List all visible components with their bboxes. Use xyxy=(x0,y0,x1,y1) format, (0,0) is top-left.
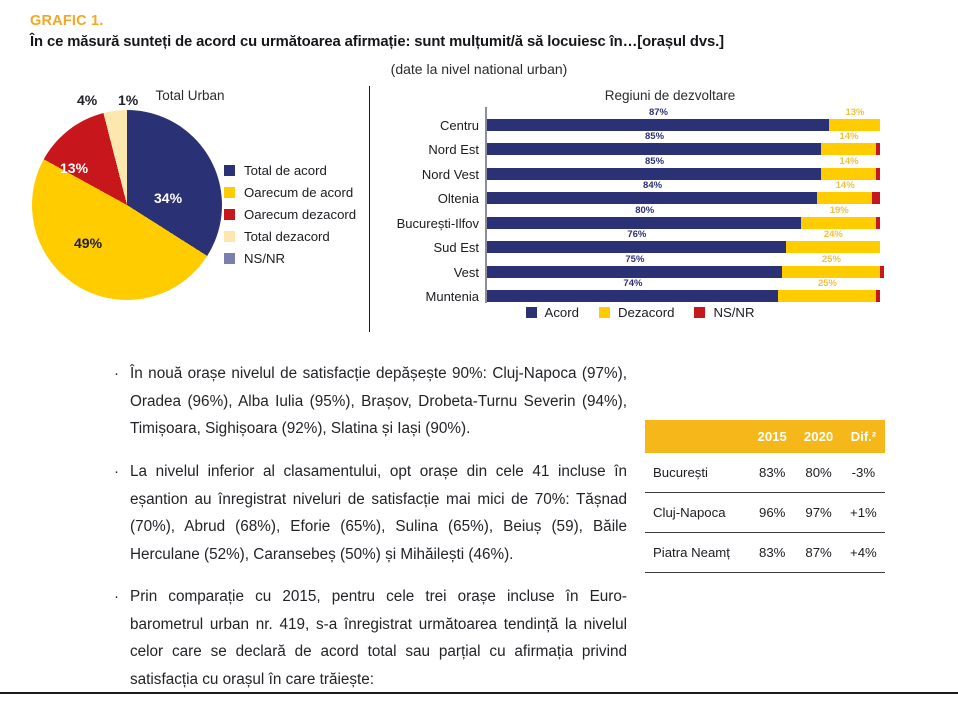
bar-legend-label: NS/NR xyxy=(713,305,754,320)
bar-legend-item: Acord xyxy=(526,305,579,320)
table-header-row: 2015 2020 Dif.² xyxy=(645,420,885,453)
bullet-text: La nivelul inferior al clasamentului, op… xyxy=(130,463,627,563)
bar-segment-dezacord xyxy=(786,241,880,253)
bar-track: 87%13% xyxy=(487,119,880,131)
pie-label-total-dezacord: 4% xyxy=(77,92,97,108)
bar-segment-nsnr xyxy=(876,217,880,229)
page-title: În ce măsură sunteți de acord cu următoa… xyxy=(30,34,724,50)
bar-track: 85%14% xyxy=(487,143,880,155)
bar-segment-dezacord xyxy=(782,266,880,278)
bullet-marker-icon: · xyxy=(114,583,119,611)
bar-chart: Centru87%13%Nord Est85%14%Nord Vest85%14… xyxy=(390,107,890,303)
bar-segment-nsnr xyxy=(872,192,880,204)
table-cell-2020: 80% xyxy=(795,453,841,493)
bar-row: Muntenia74%25% xyxy=(390,279,890,304)
bar-track: 85%14% xyxy=(487,168,880,180)
table-cell-2015: 83% xyxy=(749,453,795,493)
table-cell-2015: 83% xyxy=(749,533,795,573)
pie-legend-item: Total dezacord xyxy=(224,225,364,247)
bar-value-label-dezacord: 13% xyxy=(845,107,864,118)
bar-segment-acord xyxy=(487,217,801,229)
bar-category-label: Vest xyxy=(454,266,479,279)
bar-category-label: Muntenia xyxy=(426,290,479,303)
pie-legend-label: Total dezacord xyxy=(244,229,330,244)
bar-value-label-dezacord: 14% xyxy=(840,156,859,167)
table-cell-dif: +4% xyxy=(842,533,885,573)
pie-legend-label: Oarecum dezacord xyxy=(244,207,356,222)
bar-row: Nord Est85%14% xyxy=(390,132,890,157)
pie-legend-item: NS/NR xyxy=(224,247,364,269)
bar-category-label: Sud Est xyxy=(433,241,479,254)
table-header-city xyxy=(645,420,749,453)
bar-segment-nsnr xyxy=(880,266,884,278)
bar-value-label-dezacord: 14% xyxy=(836,180,855,191)
bar-row: Centru87%13% xyxy=(390,107,890,132)
pie-legend-item: Oarecum de acord xyxy=(224,181,364,203)
bar-row: Vest75%25% xyxy=(390,254,890,279)
bar-legend-item: NS/NR xyxy=(694,305,754,320)
pie-legend-label: Oarecum de acord xyxy=(244,185,353,200)
bar-segment-acord xyxy=(487,192,817,204)
bar-legend-swatch-icon xyxy=(526,307,537,318)
table-cell-dif: +1% xyxy=(842,493,885,533)
bar-segment-nsnr xyxy=(876,168,880,180)
bar-legend-label: Dezacord xyxy=(618,305,674,320)
bar-value-label-acord: 75% xyxy=(625,254,644,265)
bar-legend-item: Dezacord xyxy=(599,305,674,320)
pie-chart: 34% 49% 13% 4% 1% xyxy=(32,110,222,300)
bar-value-label-dezacord: 14% xyxy=(840,131,859,142)
pie-legend-swatch-icon xyxy=(224,209,235,220)
table-cell-dif: -3% xyxy=(842,453,885,493)
bar-segment-acord xyxy=(487,290,778,302)
bar-segment-nsnr xyxy=(876,290,880,302)
table-cell-2020: 97% xyxy=(795,493,841,533)
bar-legend-swatch-icon xyxy=(599,307,610,318)
bar-category-label: Nord Est xyxy=(428,143,479,156)
bar-category-label: Nord Vest xyxy=(422,168,479,181)
pie-legend-swatch-icon xyxy=(224,187,235,198)
pie-legend-label: NS/NR xyxy=(244,251,285,266)
bar-track: 84%14% xyxy=(487,192,880,204)
bar-segment-dezacord xyxy=(821,168,876,180)
bullet-item: ·La nivelul inferior al clasamentului, o… xyxy=(112,458,627,568)
bar-track: 76%24% xyxy=(487,241,880,253)
bar-chart-title: Regiuni de dezvoltare xyxy=(430,88,910,103)
table-body: București83%80%-3%Cluj-Napoca96%97%+1%Pi… xyxy=(645,453,885,573)
panel-divider xyxy=(369,86,370,332)
page-subtitle: (date la nivel national urban) xyxy=(0,61,958,77)
table-header-dif: Dif.² xyxy=(842,420,885,453)
bullet-text: Prin comparație cu 2015, pentru cele tre… xyxy=(130,588,627,688)
bar-segment-dezacord xyxy=(821,143,876,155)
bar-track: 74%25% xyxy=(487,290,880,302)
pie-legend-swatch-icon xyxy=(224,231,235,242)
pie-legend-item: Oarecum dezacord xyxy=(224,203,364,225)
bar-value-label-dezacord: 19% xyxy=(830,205,849,216)
table-head: 2015 2020 Dif.² xyxy=(645,420,885,453)
pie-legend-swatch-icon xyxy=(224,253,235,264)
bullet-text: În nouă orașe nivelul de satisfacție dep… xyxy=(130,365,627,437)
bar-row: Nord Vest85%14% xyxy=(390,156,890,181)
bar-value-label-dezacord: 25% xyxy=(822,254,841,265)
bullet-marker-icon: · xyxy=(114,458,119,486)
footer-rule xyxy=(0,692,958,694)
chart-page: GRAFIC 1. În ce măsură sunteți de acord … xyxy=(0,0,958,702)
bar-track: 80%19% xyxy=(487,217,880,229)
pie-legend-swatch-icon xyxy=(224,165,235,176)
bar-category-label: Oltenia xyxy=(438,192,479,205)
bar-row: Oltenia84%14% xyxy=(390,181,890,206)
table-row: Cluj-Napoca96%97%+1% xyxy=(645,493,885,533)
bar-segment-acord xyxy=(487,119,829,131)
bar-value-label-acord: 76% xyxy=(627,229,646,240)
pie-label-oarecum-dezacord: 13% xyxy=(60,160,88,176)
bar-value-label-acord: 87% xyxy=(649,107,668,118)
pie-chart-title: Total Urban xyxy=(60,88,320,103)
bar-value-label-acord: 85% xyxy=(645,156,664,167)
table-row: Piatra Neamț83%87%+4% xyxy=(645,533,885,573)
grafic-label: GRAFIC 1. xyxy=(30,13,104,29)
bar-legend: AcordDezacordNS/NR xyxy=(390,305,890,320)
bullet-list: ·În nouă orașe nivelul de satisfacție de… xyxy=(112,345,627,693)
pie-legend: Total de acordOarecum de acordOarecum de… xyxy=(224,159,364,269)
bar-row: București-Ilfov80%19% xyxy=(390,205,890,230)
pie-legend-label: Total de acord xyxy=(244,163,327,178)
bullet-marker-icon: · xyxy=(114,360,119,388)
table-cell-city: Piatra Neamț xyxy=(645,533,749,573)
pie-label-total-de-acord: 34% xyxy=(154,190,182,206)
table-cell-2020: 87% xyxy=(795,533,841,573)
pie-label-oarecum-de-acord: 49% xyxy=(74,235,102,251)
bar-value-label-dezacord: 25% xyxy=(818,278,837,289)
bar-segment-acord xyxy=(487,143,821,155)
comparison-table: 2015 2020 Dif.² București83%80%-3%Cluj-N… xyxy=(645,420,885,573)
bar-value-label-acord: 80% xyxy=(635,205,654,216)
table-cell-city: Cluj-Napoca xyxy=(645,493,749,533)
bar-legend-swatch-icon xyxy=(694,307,705,318)
bar-segment-acord xyxy=(487,241,786,253)
bar-segment-nsnr xyxy=(876,143,880,155)
bar-row: Sud Est76%24% xyxy=(390,230,890,255)
bar-segment-dezacord xyxy=(829,119,880,131)
bar-segment-dezacord xyxy=(778,290,876,302)
bar-track: 75%25% xyxy=(487,266,880,278)
bar-segment-dezacord xyxy=(817,192,872,204)
bar-segment-acord xyxy=(487,168,821,180)
bullet-item: ·Prin comparație cu 2015, pentru cele tr… xyxy=(112,583,627,693)
bar-value-label-dezacord: 24% xyxy=(824,229,843,240)
table-cell-city: București xyxy=(645,453,749,493)
bar-value-label-acord: 85% xyxy=(645,131,664,142)
bullet-item: ·În nouă orașe nivelul de satisfacție de… xyxy=(112,360,627,443)
bar-legend-label: Acord xyxy=(545,305,579,320)
pie-legend-item: Total de acord xyxy=(224,159,364,181)
bar-value-label-acord: 74% xyxy=(623,278,642,289)
table-cell-2015: 96% xyxy=(749,493,795,533)
bar-segment-acord xyxy=(487,266,782,278)
table-header-2020: 2020 xyxy=(795,420,841,453)
bar-segment-dezacord xyxy=(801,217,876,229)
bar-category-label: Centru xyxy=(440,119,479,132)
bar-value-label-acord: 84% xyxy=(643,180,662,191)
pie-label-ns-nr: 1% xyxy=(118,92,138,108)
pie-disc xyxy=(32,110,222,300)
table-row: București83%80%-3% xyxy=(645,453,885,493)
bar-category-label: București-Ilfov xyxy=(397,217,479,230)
table-header-2015: 2015 xyxy=(749,420,795,453)
